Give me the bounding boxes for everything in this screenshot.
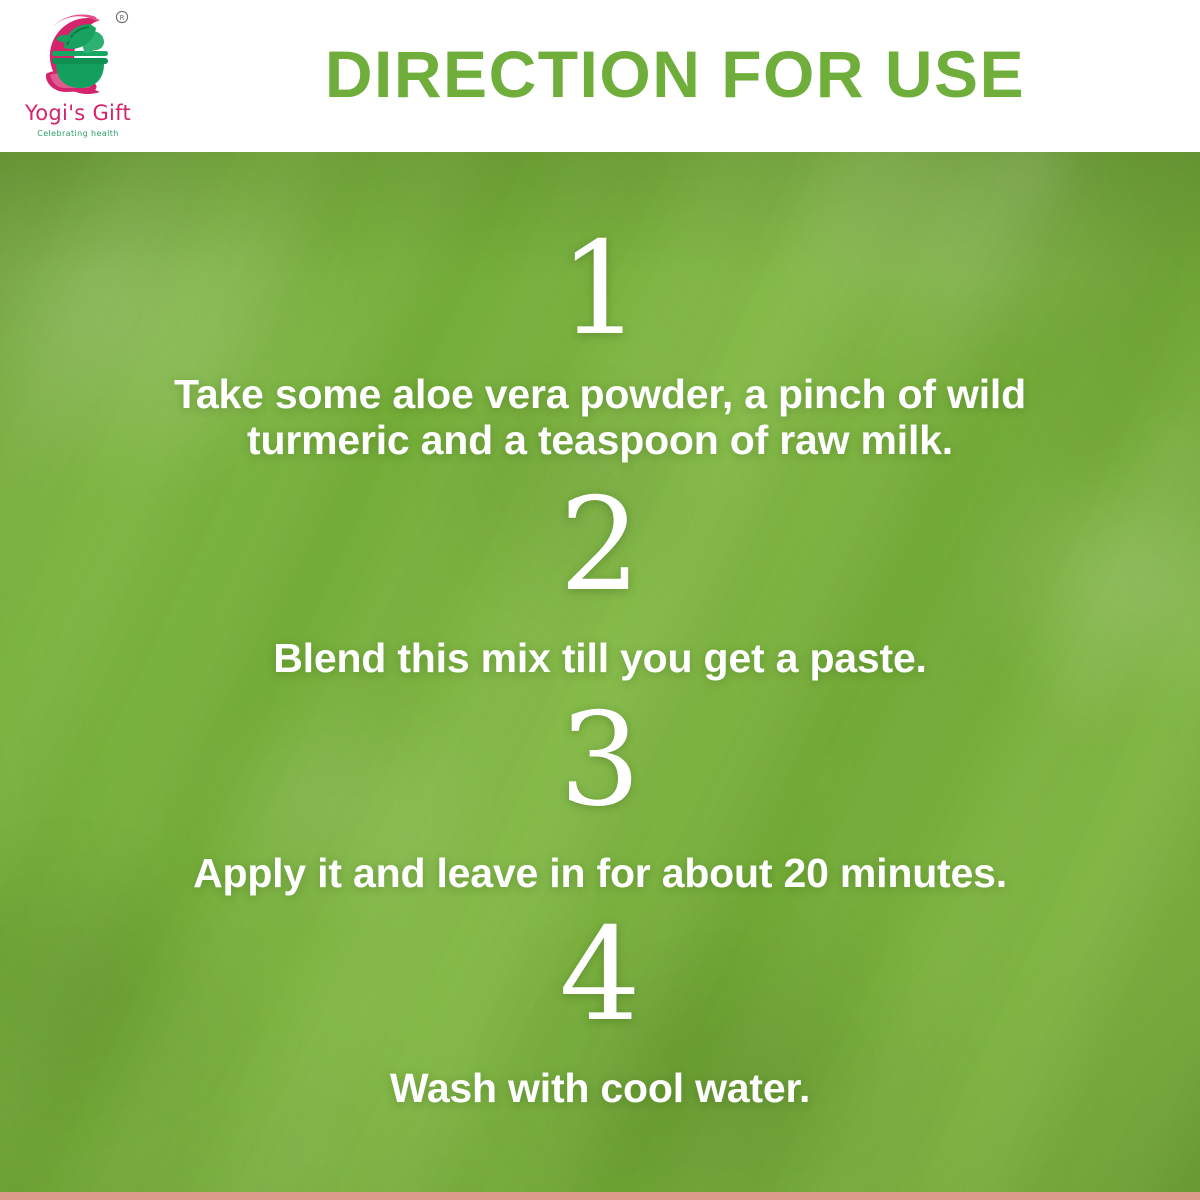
step-item: 3 Apply it and leave in for about 20 min… bbox=[0, 697, 1200, 897]
brand-tagline: Celebrating health bbox=[18, 130, 138, 138]
step-item: 1 Take some aloe vera powder, a pinch of… bbox=[0, 226, 1200, 464]
step-text: Take some aloe vera powder, a pinch of w… bbox=[0, 372, 1200, 464]
step-number: 1 bbox=[0, 226, 1200, 354]
step-text: Apply it and leave in for about 20 minut… bbox=[0, 851, 1200, 897]
direction-for-use-poster: R Yogi's Gift Celebrating health DIRECTI… bbox=[0, 0, 1200, 1200]
step-text: Blend this mix till you get a paste. bbox=[0, 636, 1200, 682]
step-text: Wash with cool water. bbox=[0, 1066, 1200, 1112]
brand-logo: R Yogi's Gift Celebrating health bbox=[18, 4, 138, 150]
step-item: 2 Blend this mix till you get a paste. bbox=[0, 482, 1200, 682]
brand-name: Yogi's Gift bbox=[18, 103, 138, 124]
step-number: 4 bbox=[0, 912, 1200, 1040]
header-bar: R Yogi's Gift Celebrating health DIRECTI… bbox=[0, 0, 1200, 152]
step-number: 2 bbox=[0, 482, 1200, 610]
page-title: DIRECTION FOR USE bbox=[150, 0, 1200, 148]
step-item: 4 Wash with cool water. bbox=[0, 912, 1200, 1112]
steps-list: 1 Take some aloe vera powder, a pinch of… bbox=[0, 152, 1200, 1192]
step-number: 3 bbox=[0, 697, 1200, 825]
yogis-gift-logo-icon: R bbox=[26, 8, 130, 104]
svg-text:R: R bbox=[120, 14, 125, 22]
bottom-accent-bar bbox=[0, 1192, 1200, 1200]
